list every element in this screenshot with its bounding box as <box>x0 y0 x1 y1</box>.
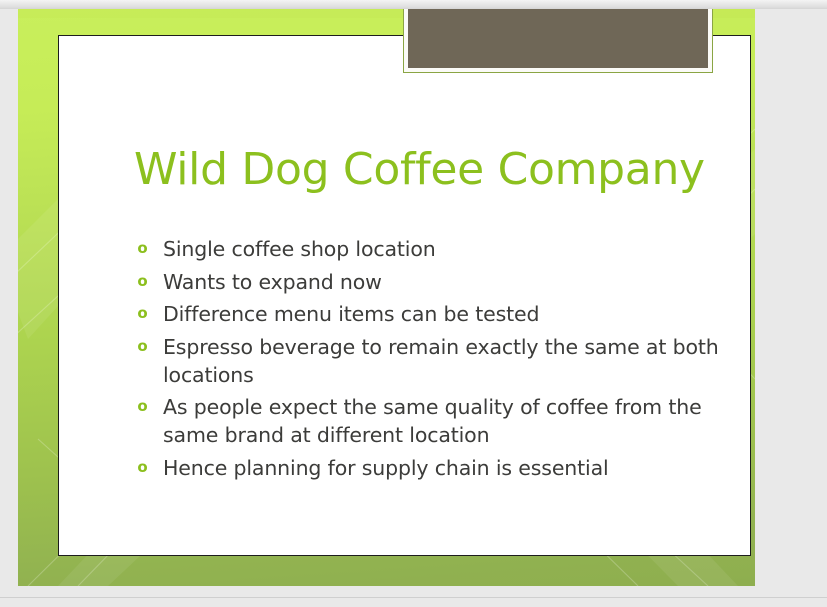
bullet-ring-icon: o <box>136 237 149 259</box>
decorative-image-placeholder <box>403 9 713 73</box>
slide-content-panel: Wild Dog Coffee Company o Single coffee … <box>58 35 751 556</box>
page-gutter-right <box>755 0 827 607</box>
list-item[interactable]: o Difference menu items can be tested <box>134 301 734 329</box>
bullet-ring-icon: o <box>136 395 149 417</box>
slide-bullet-list: o Single coffee shop location o Wants to… <box>134 236 734 487</box>
decorative-image-fill <box>408 9 708 68</box>
list-item-label: Wants to expand now <box>163 269 734 297</box>
list-item[interactable]: o Single coffee shop location <box>134 236 734 264</box>
list-item-label: As people expect the same quality of cof… <box>163 394 734 449</box>
page-gutter-left <box>0 0 18 607</box>
list-item-label: Espresso beverage to remain exactly the … <box>163 334 734 389</box>
bullet-ring-icon: o <box>136 302 149 324</box>
bullet-ring-icon: o <box>136 456 149 478</box>
slide-title: Wild Dog Coffee Company <box>134 144 754 196</box>
list-item[interactable]: o Wants to expand now <box>134 269 734 297</box>
slide-viewer: Wild Dog Coffee Company o Single coffee … <box>0 0 827 607</box>
list-item[interactable]: o Espresso beverage to remain exactly th… <box>134 334 734 389</box>
page-gutter-bottom <box>0 586 827 607</box>
list-item-label: Difference menu items can be tested <box>163 301 734 329</box>
list-item-label: Hence planning for supply chain is essen… <box>163 455 734 483</box>
bullet-ring-icon: o <box>136 270 149 292</box>
window-top-edge <box>0 0 827 9</box>
presentation-slide[interactable]: Wild Dog Coffee Company o Single coffee … <box>18 9 755 586</box>
list-item[interactable]: o As people expect the same quality of c… <box>134 394 734 449</box>
list-item-label: Single coffee shop location <box>163 236 734 264</box>
list-item[interactable]: o Hence planning for supply chain is ess… <box>134 455 734 483</box>
bullet-ring-icon: o <box>136 335 149 357</box>
